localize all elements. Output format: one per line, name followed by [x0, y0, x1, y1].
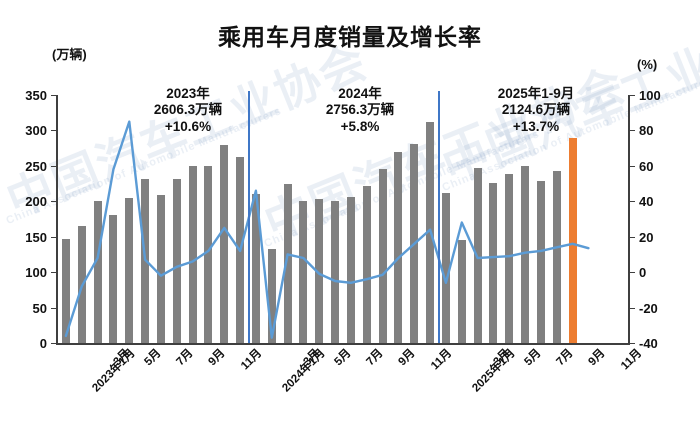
year-divider — [438, 91, 440, 343]
right-axis-tick-label: -20 — [639, 302, 658, 315]
x-axis-tick-label: 11月 — [427, 345, 455, 373]
right-tick-mark — [630, 308, 635, 309]
annotation-year: 2024年 — [300, 86, 420, 102]
growth-rate-polyline — [66, 122, 589, 338]
chart-container: 中国汽车工业协会 China Association of Automobile… — [0, 0, 700, 447]
annotation-year: 2025年1-9月 — [466, 86, 606, 102]
x-axis-tick-label: 5月 — [520, 345, 544, 369]
annotation-growth: +13.7% — [466, 119, 606, 135]
left-tick-mark — [51, 166, 56, 167]
left-axis-tick-label: 200 — [25, 195, 47, 208]
right-axis-tick-label: 20 — [639, 231, 653, 244]
right-axis-tick-label: 100 — [639, 89, 661, 102]
right-tick-mark — [630, 272, 635, 273]
left-axis-tick-label: 350 — [25, 89, 47, 102]
right-tick-mark — [630, 130, 635, 131]
left-tick-mark — [51, 308, 56, 309]
x-axis-tick-label: 9月 — [394, 345, 418, 369]
right-axis-tick-label: 0 — [639, 266, 646, 279]
x-axis-tick-label: 5月 — [140, 345, 164, 369]
right-tick-mark — [630, 237, 635, 238]
x-axis-tick-label: 9月 — [204, 345, 228, 369]
left-tick-mark — [51, 201, 56, 202]
year-divider — [248, 91, 250, 343]
annotation-total: 2124.6万辆 — [466, 102, 606, 118]
annotation-total: 2606.3万辆 — [128, 102, 248, 118]
right-axis-tick-label: 80 — [639, 124, 653, 137]
left-axis-tick-label: 150 — [25, 231, 47, 244]
right-tick-mark — [630, 201, 635, 202]
left-axis-tick-label: 50 — [33, 302, 47, 315]
right-axis-unit-label: (%) — [637, 57, 657, 72]
x-axis-tick-label: 7月 — [172, 345, 196, 369]
left-axis-tick-label: 100 — [25, 266, 47, 279]
x-axis-labels: 2023年1月3月5月7月9月11月2024年1月3月5月7月9月11月2025… — [58, 345, 628, 425]
left-axis-unit-label: (万辆) — [52, 44, 87, 63]
left-tick-mark — [51, 237, 56, 238]
left-tick-mark — [51, 130, 56, 131]
x-axis-tick-label: 7月 — [362, 345, 386, 369]
x-axis-tick-label: 11月 — [237, 345, 265, 373]
annotation-2023: 2023年 2606.3万辆 +10.6% — [128, 86, 248, 135]
left-tick-mark — [51, 272, 56, 273]
annotation-2025: 2025年1-9月 2124.6万辆 +13.7% — [466, 86, 606, 135]
annotation-growth: +10.6% — [128, 119, 248, 135]
right-axis-line — [628, 95, 630, 343]
left-tick-mark — [51, 343, 56, 344]
right-axis-tick-label: 60 — [639, 160, 653, 173]
chart-title: 乘用车月度销量及增长率 — [0, 18, 700, 52]
left-axis-tick-label: 250 — [25, 160, 47, 173]
left-axis-tick-label: 300 — [25, 124, 47, 137]
annotation-total: 2756.3万辆 — [300, 102, 420, 118]
annotation-growth: +5.8% — [300, 119, 420, 135]
annotation-year: 2023年 — [128, 86, 248, 102]
right-axis-tick-label: 40 — [639, 195, 653, 208]
x-axis-tick-label: 9月 — [584, 345, 608, 369]
left-axis-tick-label: 0 — [40, 337, 47, 350]
right-axis-tick-label: -40 — [639, 337, 658, 350]
annotation-2024: 2024年 2756.3万辆 +5.8% — [300, 86, 420, 135]
right-tick-mark — [630, 343, 635, 344]
x-axis-tick-label: 5月 — [330, 345, 354, 369]
right-tick-mark — [630, 166, 635, 167]
x-axis-tick-label: 7月 — [552, 345, 576, 369]
right-tick-mark — [630, 95, 635, 96]
left-tick-mark — [51, 95, 56, 96]
